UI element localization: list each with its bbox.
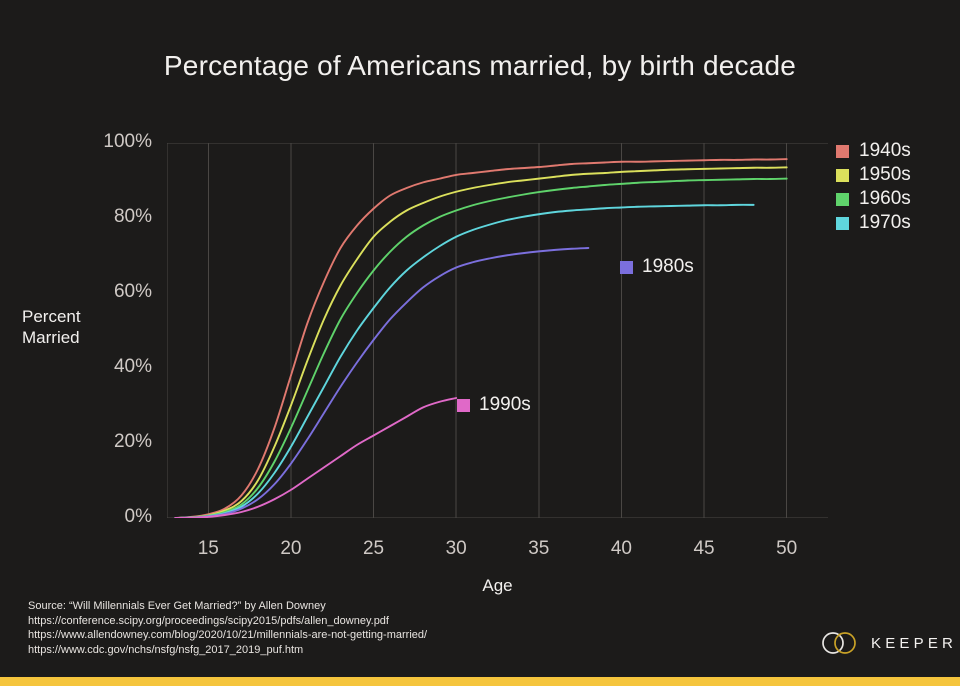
series-line-1960s <box>175 179 786 518</box>
legend-item-1940s[interactable]: 1940s <box>836 139 960 163</box>
source-line-4: https://www.cdc.gov/nchs/nsfg/nsfg_2017_… <box>28 643 427 658</box>
legend: 1940s1950s1960s1970s <box>836 139 960 235</box>
y-tick-20: 20% <box>72 431 152 453</box>
plot-area <box>167 143 828 518</box>
legend-item-1970s[interactable]: 1970s <box>836 211 960 235</box>
legend-swatch-1950s <box>836 169 849 182</box>
legend-label-1940s: 1940s <box>859 139 911 163</box>
legend-label-1950s: 1950s <box>859 163 911 187</box>
y-tick-80: 80% <box>72 206 152 228</box>
series-marker-1990s <box>457 399 470 412</box>
y-axis-tick-labels: 0%20%40%60%80%100% <box>72 143 152 518</box>
series-label-1990s: 1990s <box>457 394 531 416</box>
legend-item-1950s[interactable]: 1950s <box>836 163 960 187</box>
bottom-accent-bar <box>0 677 960 686</box>
legend-swatch-1940s <box>836 145 849 158</box>
source-line-3: https://www.allendowney.com/blog/2020/10… <box>28 628 427 643</box>
logo-wordmark: KEEPER <box>871 635 957 652</box>
source-citation: Source: “Will Millennials Ever Get Marri… <box>28 599 427 657</box>
legend-swatch-1960s <box>836 193 849 206</box>
source-line-1: Source: “Will Millennials Ever Get Marri… <box>28 599 427 614</box>
series-label-1980s: 1980s <box>620 256 694 278</box>
y-tick-60: 60% <box>72 281 152 303</box>
series-label-text-1980s: 1980s <box>642 256 694 278</box>
page-title: Percentage of Americans married, by birt… <box>0 50 960 82</box>
source-line-2: https://conference.scipy.org/proceedings… <box>28 614 427 629</box>
legend-swatch-1970s <box>836 217 849 230</box>
line-chart-svg <box>167 143 828 518</box>
x-tick-35: 35 <box>528 538 549 560</box>
x-tick-25: 25 <box>363 538 384 560</box>
keeper-logo: KEEPER <box>818 630 957 656</box>
x-tick-30: 30 <box>446 538 467 560</box>
x-tick-15: 15 <box>198 538 219 560</box>
x-axis-tick-labels: 1520253035404550 <box>167 538 828 568</box>
y-tick-0: 0% <box>72 506 152 528</box>
y-tick-40: 40% <box>72 356 152 378</box>
series-line-1980s <box>175 248 588 518</box>
slide-canvas: Percentage of Americans married, by birt… <box>0 0 960 686</box>
x-tick-40: 40 <box>611 538 632 560</box>
x-tick-20: 20 <box>280 538 301 560</box>
x-tick-45: 45 <box>693 538 714 560</box>
y-tick-100: 100% <box>72 131 152 153</box>
series-label-text-1990s: 1990s <box>479 394 531 416</box>
series-line-1990s <box>175 398 456 518</box>
legend-item-1960s[interactable]: 1960s <box>836 187 960 211</box>
x-axis-title: Age <box>167 576 828 596</box>
series-line-1950s <box>175 167 786 518</box>
legend-label-1970s: 1970s <box>859 211 911 235</box>
legend-label-1960s: 1960s <box>859 187 911 211</box>
series-lines <box>175 159 786 518</box>
x-tick-50: 50 <box>776 538 797 560</box>
series-marker-1980s <box>620 261 633 274</box>
interlocking-rings-icon <box>818 630 862 656</box>
